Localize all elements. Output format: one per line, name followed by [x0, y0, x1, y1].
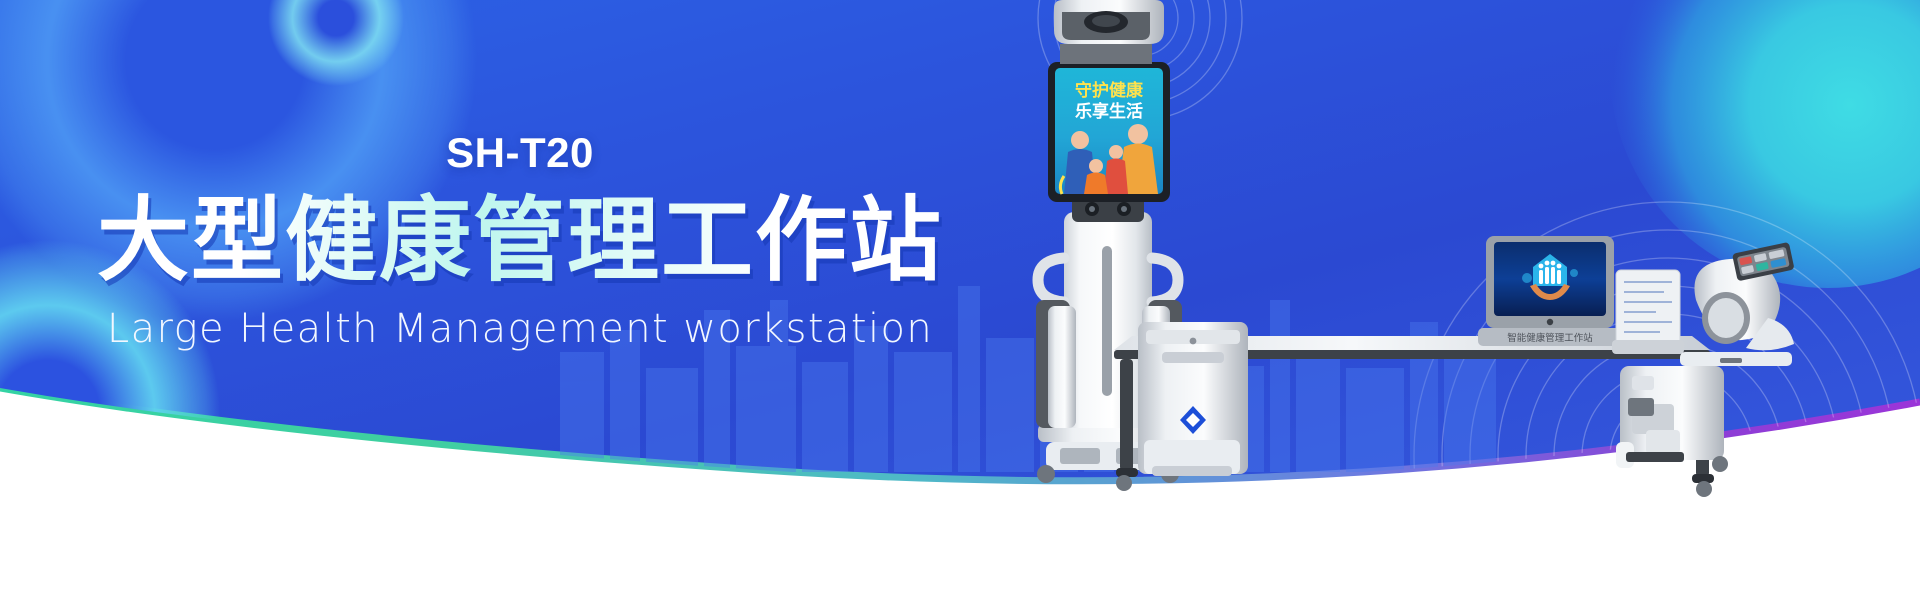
slip-printer [1612, 270, 1684, 354]
page-subtitle-en: Large Health Management workstation [0, 306, 1040, 352]
kiosk-screen-headline-1: 守护健康 [1075, 80, 1144, 101]
lower-cabinet [1144, 440, 1240, 476]
keypad-icon [1732, 242, 1795, 281]
kiosk-screen-headline-2: 乐享生活 [1075, 101, 1143, 122]
desk-monitor-caption: 智能健康管理工作站 [1507, 332, 1593, 344]
lock-icon [1190, 338, 1197, 345]
banner-copy: SH-T20 大型健康管理工作站 Large Health Management… [0, 132, 1040, 352]
page-title-cn: 大型健康管理工作站 [0, 192, 1040, 290]
kiosk-ad-screen: 守护健康 乐享生活 [1048, 62, 1170, 202]
desk-monitor: 智能健康管理工作站 [1478, 236, 1622, 346]
caster-wheel-icon [1116, 475, 1132, 491]
caster-wheel-icon [1696, 481, 1712, 497]
side-equipment-unit [1616, 366, 1728, 472]
product-hero-banner: SH-T20 大型健康管理工作站 Large Health Management… [0, 0, 1920, 600]
caster-wheel-icon [1712, 456, 1728, 472]
caster-wheel-icon [1037, 465, 1055, 483]
product-model-code: SH-T20 [0, 132, 1040, 174]
product-illustration: 守护健康 乐享生活 [1020, 0, 1920, 600]
